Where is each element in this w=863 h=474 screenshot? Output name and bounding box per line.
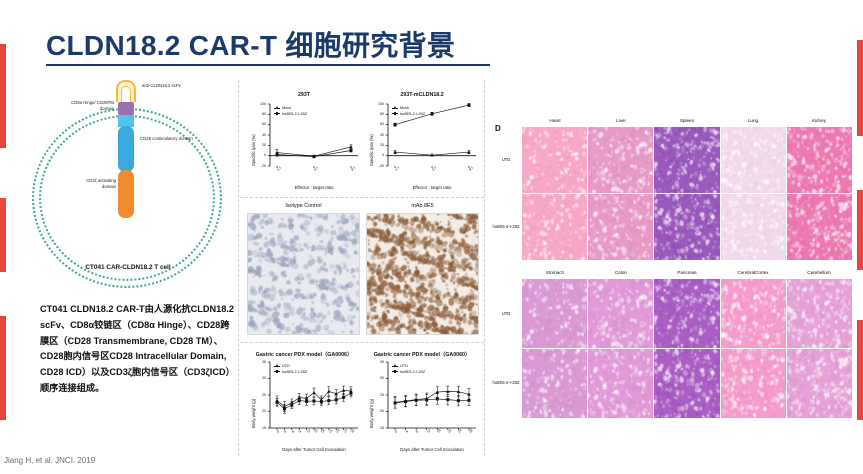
ihc-title-mab: mAb 8E5: [366, 203, 479, 209]
legend-marker-icon: [392, 366, 398, 367]
y-axis-label: Specific lysis (%): [251, 134, 256, 166]
histology-column-header: Stomach: [522, 270, 588, 275]
histology-image-cell: [654, 279, 719, 348]
slide-canvas: CLDN18.2 CAR-T 细胞研究背景 anti-CLDN18.2 scFv…: [0, 0, 863, 474]
histology-grid-bottom: StomachColonPancreasCerebralCortexCerebe…: [522, 270, 852, 418]
histology-image-cell: [588, 279, 653, 348]
histology-image-cell: [654, 194, 719, 260]
histology-column-header: Liver: [588, 118, 654, 123]
y-axis-label: Specific lysis (%): [369, 134, 374, 166]
histology-row-label: UTD: [492, 157, 520, 162]
ihc-image-mab: [366, 213, 479, 335]
histology-image-cell: [522, 279, 587, 348]
divider-vertical-left: [238, 80, 239, 456]
chart-legend: Mockhu8E5-2-I-28Z: [392, 105, 425, 117]
histology-column-header: Colon: [588, 270, 654, 275]
cart-construct-diagram: anti-CLDN18.2 scFv CD8a Hinge/ CD28TM do…: [22, 78, 234, 300]
histology-column-header: Kidney: [786, 118, 852, 123]
legend-item: hu8E5-2-I-28Z: [392, 111, 425, 117]
accent-bar-right-bottom: [857, 320, 863, 420]
legend-marker-icon: [274, 366, 280, 367]
accent-bar-right-mid: [857, 190, 863, 270]
histology-image-cell: [721, 279, 786, 348]
chart-bodyweight-ga0060: Gastric cancer PDX model（GA0060）15202530…: [364, 350, 480, 454]
histology-column-header: Heart: [522, 118, 588, 123]
y-axis-label: Body weight (g): [369, 399, 374, 428]
legend-label: hu8E5-2-I-28Z: [400, 111, 425, 117]
label-costim: CD28 costimulatory domain: [140, 136, 196, 142]
histology-column-header: Lung: [720, 118, 786, 123]
histology-image-cell: [522, 127, 587, 193]
legend-marker-icon: [274, 371, 280, 372]
ihc-panel: Isotype Control mAb 8E5: [244, 203, 482, 339]
x-axis-label: Effector : target ratio: [388, 185, 476, 190]
histology-column-header: CerebralCortex: [720, 270, 786, 275]
histology-image-cell: [787, 194, 852, 260]
legend-item: hu8E5-2-I-28Z: [392, 369, 425, 375]
title-underline: [46, 64, 490, 66]
legend-label: hu8E5-2-I-28Z: [282, 369, 307, 375]
histology-image-cell: [787, 279, 852, 348]
legend-label: hu8E5-2-I-28Z: [400, 369, 425, 375]
legend-marker-icon: [392, 371, 398, 372]
accent-bar-left-bottom: [0, 316, 6, 420]
label-scfv: anti-CLDN18.2 scFv: [142, 83, 202, 89]
cd3z-activating-domain-icon: [118, 170, 134, 218]
x-axis-label: Effector : target ratio: [270, 185, 358, 190]
x-axis-label: Days after Tumor Cell Inoculation: [388, 447, 476, 452]
histology-image-cell: [721, 349, 786, 418]
legend-label: hu8E5-2-I-28Z: [282, 111, 307, 117]
histology-image-cell: [654, 349, 719, 418]
legend-marker-icon: [274, 113, 280, 114]
scfv-domain-inner-icon: [121, 86, 131, 103]
histology-image-cell: [522, 194, 587, 260]
chart-legend: Mockhu8E5-2-I-28Z: [274, 105, 307, 117]
histology-image-cell: [588, 127, 653, 193]
histology-image-cell: [588, 194, 653, 260]
histology-image-cell: [654, 127, 719, 193]
histology-column-header: Spleen: [654, 118, 720, 123]
accent-bar-left-top: [0, 44, 6, 148]
cd28-costim-domain-icon: [118, 126, 134, 172]
divider-horizontal-top: [240, 197, 484, 198]
legend-marker-icon: [392, 108, 398, 109]
chart-legend: UTDhu8E5-2-I-28Z: [392, 363, 425, 375]
histology-image-grid: [522, 279, 852, 418]
chart-bodyweight-ga0006: Gastric cancer PDX model（GA0006）15202530…: [246, 350, 362, 454]
body-paragraph: CT041 CLDN18.2 CAR-T由人源化抗CLDN18.2 scFv、C…: [40, 302, 236, 397]
ihc-title-isotype: Isotype Control: [247, 203, 360, 209]
histology-image-grid: [522, 127, 852, 260]
x-axis-label: Days after Tumor Cell Inoculation: [270, 447, 358, 452]
legend-marker-icon: [392, 113, 398, 114]
legend-item: hu8E5-2-I-28Z: [274, 369, 307, 375]
chart-cytotoxicity-293t: 293T-200204060801001:13:19:1Specific lys…: [246, 92, 362, 192]
slide-title: CLDN18.2 CAR-T 细胞研究背景: [46, 24, 455, 64]
histology-image-cell: [787, 127, 852, 193]
accent-bar-right-top: [857, 40, 863, 136]
histology-image-cell: [588, 349, 653, 418]
histology-image-cell: [787, 349, 852, 418]
histology-image-cell: [522, 349, 587, 418]
panel-letter-label: D: [495, 124, 501, 133]
divider-vertical-right: [484, 80, 485, 456]
histology-row-label: hu8E5-2-I-28Z: [492, 224, 520, 229]
histology-row-label: UTD: [492, 311, 520, 316]
label-hinge: CD8a Hinge/ CD28TM domain: [62, 100, 114, 112]
ihc-image-isotype: [247, 213, 360, 335]
hinge-domain-icon: [118, 102, 134, 115]
chart-legend: UTDhu8E5-2-I-28Z: [274, 363, 307, 375]
chart-cytotoxicity-293t-mcldn182: 293T-mCLDN18.2-200204060801001:13:19:1Sp…: [364, 92, 480, 192]
histology-column-header: Pancreas: [654, 270, 720, 275]
legend-item: hu8E5-2-I-28Z: [274, 111, 307, 117]
y-axis-label: Body weight (g): [251, 399, 256, 428]
histology-column-header: Cerebellum: [786, 270, 852, 275]
legend-marker-icon: [274, 108, 280, 109]
label-activating: CD3ζ activating domain: [74, 178, 116, 190]
histology-image-cell: [721, 194, 786, 260]
histology-image-cell: [721, 127, 786, 193]
histology-row-label: hu8E5-2-I-28Z: [492, 380, 520, 385]
divider-horizontal-bottom: [240, 342, 484, 343]
citation-text: Jiang H, et al. JNCI. 2019: [4, 456, 95, 465]
histology-panel: D HeartLiverSpleenLungKidneyUTDhu8E5-2-I…: [492, 112, 854, 424]
histology-grid-top: HeartLiverSpleenLungKidneyUTDhu8E5-2-I-2…: [522, 118, 852, 260]
label-cell-name: CT041 CAR-CLDN18.2 T cell: [52, 264, 204, 271]
accent-bar-left-mid: [0, 198, 6, 272]
